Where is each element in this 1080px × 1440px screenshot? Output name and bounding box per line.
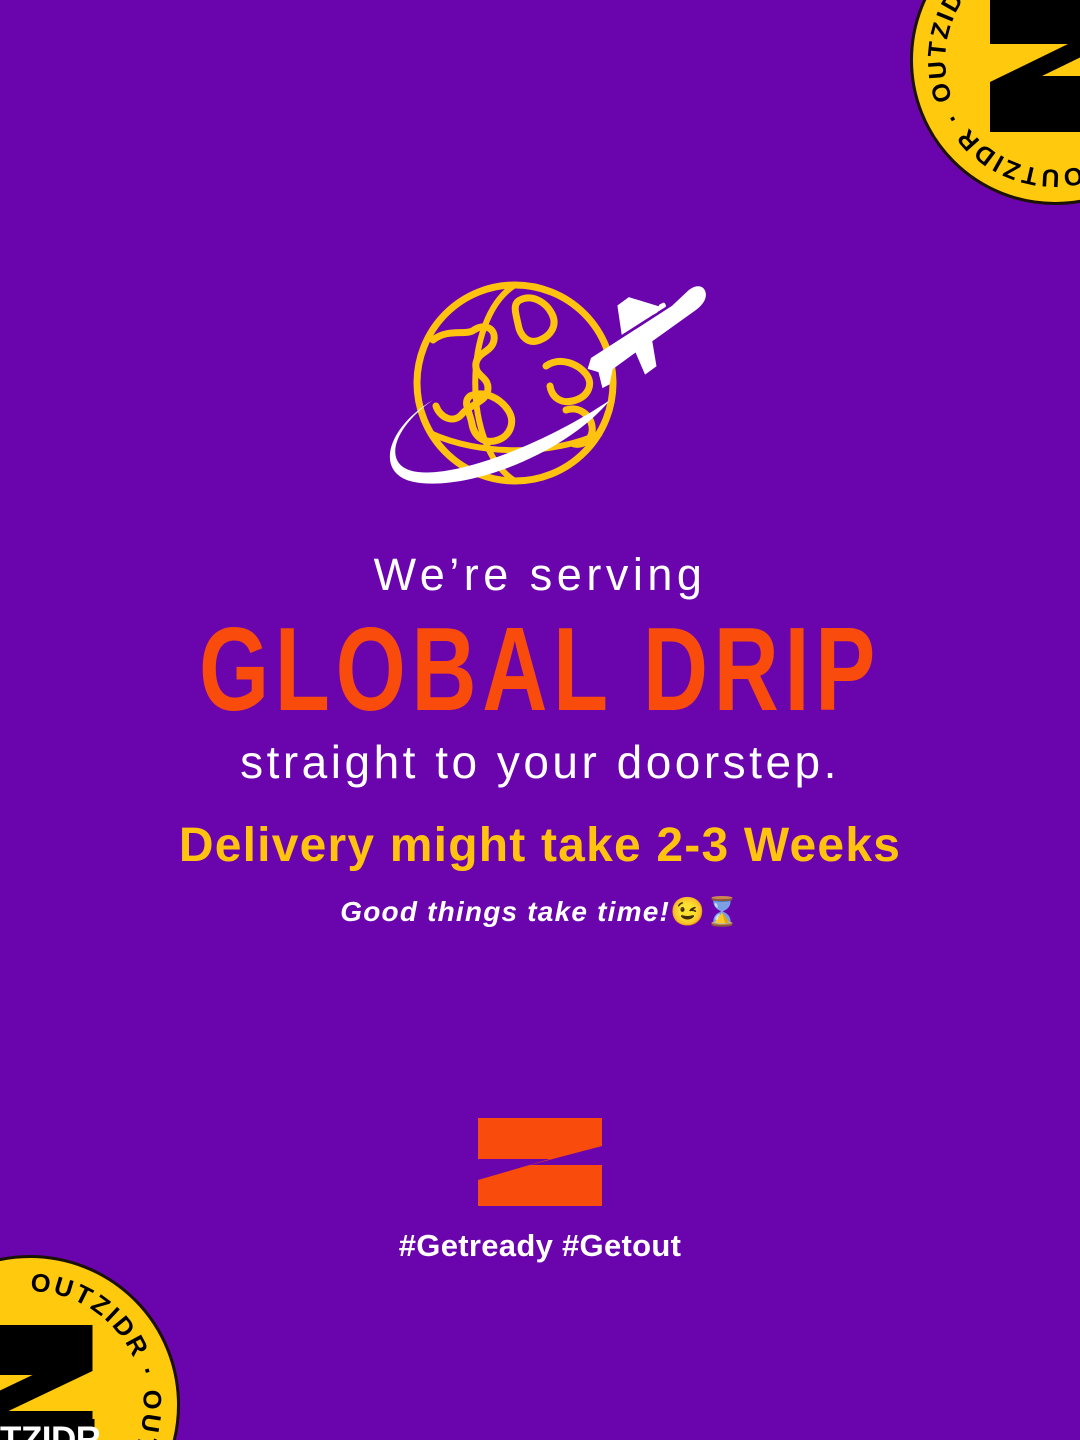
globe-airplane-emblem [0, 278, 1080, 508]
promo-poster: OUTZIDR · OUTZIDR · OUTZIDR · OUTZIDR · … [0, 0, 1080, 1440]
outzidr-z-logo [478, 1118, 602, 1206]
footer-brand-block: #Getready #Getout [0, 1118, 1080, 1264]
badge-center-mark-bottom-left: OUTZIDR [0, 1319, 118, 1440]
hashtags-text: #Getready #Getout [0, 1227, 1080, 1264]
winking-face-icon: 😉 [670, 896, 705, 927]
headline-text: GLOBAL DRIP [32, 611, 1047, 730]
subhead-text: straight to your doorstep. [0, 735, 1080, 790]
delivery-headline: Delivery might take 2-3 Weeks [0, 820, 1080, 873]
main-copy-block: We’re serving GLOBAL DRIP straight to yo… [0, 548, 1080, 790]
badge-center-mark-top-right [980, 0, 1080, 140]
globe-airplane-icon [370, 278, 710, 508]
corner-badge-bottom-left: OUTZIDR · OUTZIDR · OUTZIDR · OUTZIDR · … [0, 1255, 180, 1440]
eyebrow-text: We’re serving [0, 548, 1080, 601]
delivery-notice-block: Delivery might take 2-3 Weeks Good thing… [0, 820, 1080, 928]
delivery-note: Good things take time!😉⌛ [0, 895, 1080, 929]
badge-center-wordmark-bottom-left: OUTZIDR [0, 1420, 101, 1440]
delivery-note-text: Good things take time! [340, 896, 670, 927]
corner-badge-top-right: OUTZIDR · OUTZIDR · OUTZIDR · OUTZIDR · [910, 0, 1080, 205]
hourglass-icon: ⌛ [705, 896, 740, 927]
